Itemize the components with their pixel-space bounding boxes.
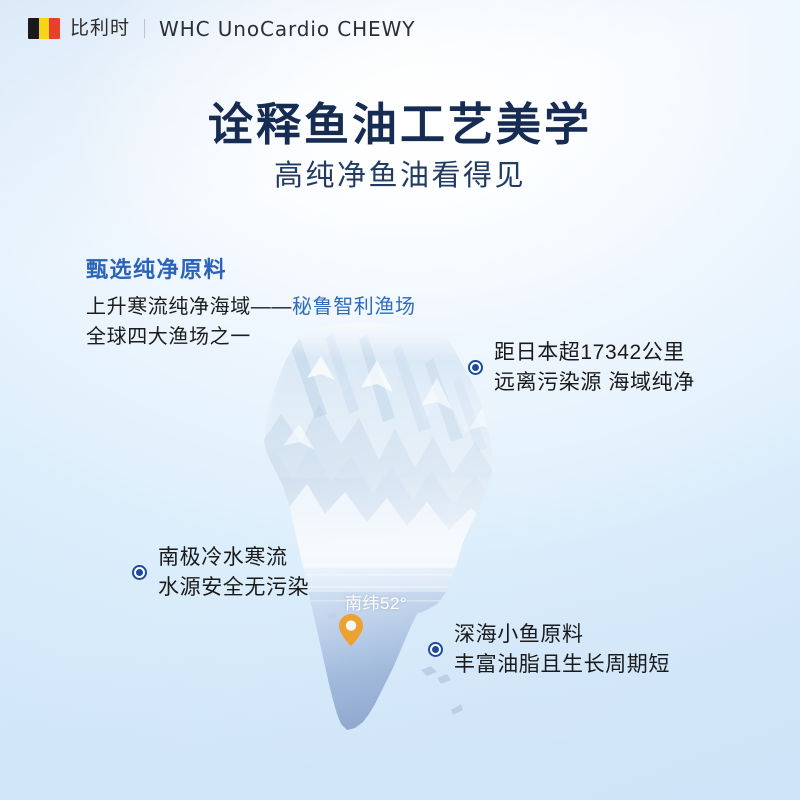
section-line-1-highlight: 秘鲁智利渔场 (292, 296, 416, 318)
callout-text: 南极冷水寒流 水源安全无污染 (158, 543, 309, 603)
callout-line-1: 深海小鱼原料 (454, 623, 584, 646)
bullet-dot-icon (136, 569, 143, 576)
flag-stripe-red (49, 18, 60, 39)
callout-japan-distance: 距日本超17342公里 远离污染源 海域纯净 (468, 338, 695, 398)
page-subtitle: 高纯净鱼油看得见 (0, 152, 800, 194)
callout-deep-sea-fish: 深海小鱼原料 丰富油脂且生长周期短 (428, 620, 670, 680)
section-line-1-plain: 上升寒流纯净海域—— (86, 296, 292, 318)
callout-line-2: 水源安全无污染 (158, 576, 309, 599)
belgium-flag-icon (28, 18, 60, 39)
latitude-label: 南纬52° (345, 589, 407, 614)
callout-antarctic-current: 南极冷水寒流 水源安全无污染 (132, 543, 309, 603)
bullet-icon (132, 565, 147, 580)
bullet-dot-icon (432, 646, 439, 653)
page-title: 诠释鱼油工艺美学 (0, 88, 800, 153)
section-line-2: 全球四大渔场之一 (86, 320, 251, 349)
section-heading: 甄选纯净原料 (86, 252, 227, 284)
callout-line-2: 远离污染源 海域纯净 (494, 371, 695, 394)
brand-name: WHC UnoCardio CHEWY (159, 19, 415, 39)
flag-stripe-black (28, 18, 39, 39)
header-divider (144, 19, 145, 38)
callout-text: 距日本超17342公里 远离污染源 海域纯净 (494, 338, 695, 398)
flag-stripe-yellow (39, 18, 50, 39)
callout-text: 深海小鱼原料 丰富油脂且生长周期短 (454, 620, 670, 680)
bullet-dot-icon (472, 364, 479, 371)
callout-line-1: 距日本超17342公里 (494, 341, 685, 364)
brand-header: 比利时 WHC UnoCardio CHEWY (28, 18, 415, 39)
callout-line-2: 丰富油脂且生长周期短 (454, 653, 670, 676)
bullet-icon (428, 642, 443, 657)
map-pin-icon[interactable] (338, 613, 364, 647)
callout-line-1: 南极冷水寒流 (158, 546, 288, 569)
bullet-icon (468, 360, 483, 375)
country-label: 比利时 (70, 19, 130, 38)
section-line-1: 上升寒流纯净海域——秘鲁智利渔场 (86, 290, 416, 319)
